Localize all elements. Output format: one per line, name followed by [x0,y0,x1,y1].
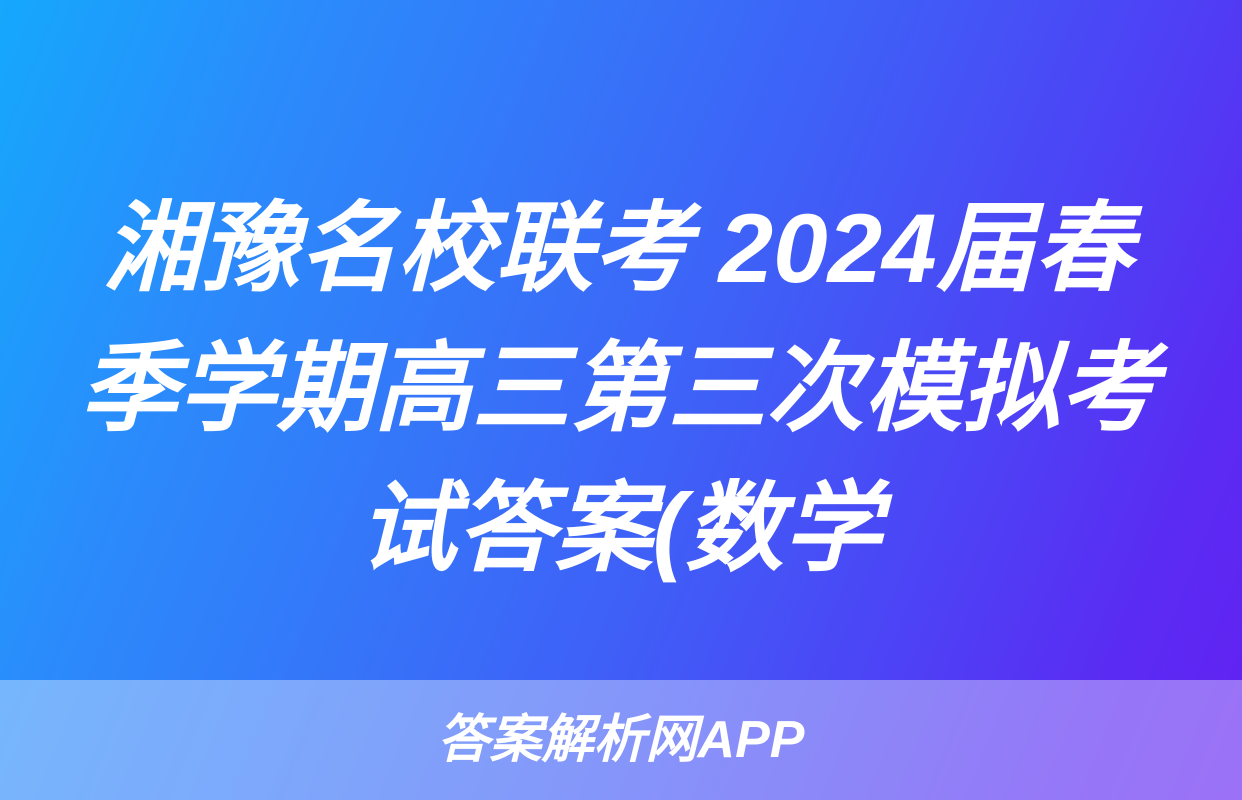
footer-watermark-band: 答案解析网APP [0,680,1242,800]
app-brand-watermark: 答案解析网APP [438,710,805,770]
title-line-3: 试答案(数学 [50,458,1192,598]
title-line-2: 季学期高三第三次模拟考 [50,318,1192,458]
page-title: 湘豫名校联考 2024届春 季学期高三第三次模拟考 试答案(数学 [0,178,1242,598]
promo-card: 湘豫名校联考 2024届春 季学期高三第三次模拟考 试答案(数学 答案解析网AP… [0,0,1242,800]
title-line-1: 湘豫名校联考 2024届春 [50,178,1192,318]
